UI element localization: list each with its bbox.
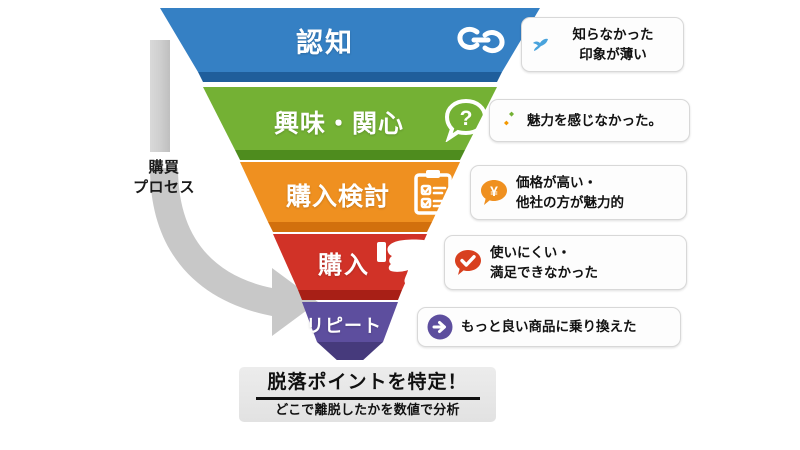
funnel-stage-5-spout: [317, 342, 383, 360]
funnel-stage-1-shadow: [198, 72, 502, 82]
summary-banner-title: 脱落ポイントを特定！: [267, 373, 467, 395]
callout-consideration[interactable]: ¥ 価格が高い・ 他社の方が魅力的: [470, 165, 687, 220]
check-speech-bubble-icon: [453, 248, 483, 278]
callout-repeat[interactable]: もっと良い商品に乗り換えた: [417, 307, 681, 347]
callout-awareness-text: 知らなかった 印象が薄い: [557, 25, 669, 64]
callout-consideration-text: 価格が高い・ 他社の方が魅力的: [516, 173, 624, 212]
callout-awareness-line1: 知らなかった: [573, 27, 654, 42]
funnel-stage-2-shadow: [235, 150, 465, 160]
link-icon: [455, 20, 507, 60]
callout-consideration-line2: 他社の方が魅力的: [516, 195, 624, 210]
thumbs-down-icon: [376, 237, 432, 287]
funnel-infographic: 購買 プロセス ?: [0, 0, 800, 450]
callout-interest-text: 魅力を感じなかった。: [527, 111, 662, 131]
summary-banner-subtitle: どこで離脱したかを数値で分析: [275, 403, 459, 416]
sparkle-diamond-icon: [498, 110, 520, 132]
callout-repeat-text: もっと良い商品に乗り換えた: [461, 317, 637, 337]
funnel-stage-4-shadow: [298, 290, 402, 300]
callout-consideration-line1: 価格が高い・: [516, 175, 597, 190]
arrow-right-circle-icon: [426, 313, 454, 341]
callout-interest[interactable]: 魅力を感じなかった。: [489, 99, 690, 142]
funnel-stage-5[interactable]: [302, 302, 398, 342]
svg-text:?: ?: [460, 107, 473, 130]
callout-awareness[interactable]: 知らなかった 印象が薄い: [521, 17, 684, 72]
callout-purchase[interactable]: 使いにくい・ 満足できなかった: [444, 235, 687, 290]
svg-text:¥: ¥: [490, 183, 498, 199]
callout-purchase-line1: 使いにくい・: [490, 245, 571, 260]
clipboard-checklist-icon: [412, 167, 454, 217]
callout-purchase-text: 使いにくい・ 満足できなかった: [490, 243, 598, 282]
funnel-stage-3-shadow: [268, 222, 432, 232]
question-speech-bubble-icon: ?: [443, 98, 489, 142]
summary-banner: 脱落ポイントを特定！ どこで離脱したかを数値で分析: [239, 367, 496, 422]
summary-banner-divider: [256, 397, 480, 400]
bird-icon: [530, 35, 550, 55]
callout-purchase-line2: 満足できなかった: [490, 265, 598, 280]
callout-awareness-line2: 印象が薄い: [579, 47, 647, 62]
yen-speech-bubble-icon: ¥: [479, 178, 509, 208]
